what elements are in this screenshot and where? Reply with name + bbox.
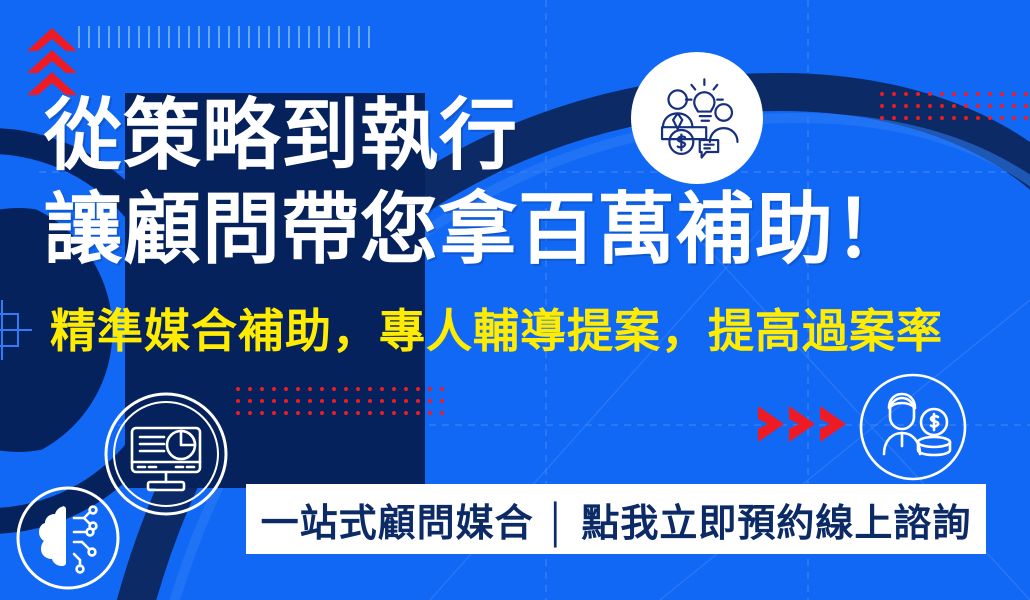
top-tick-marks (78, 26, 370, 48)
cta-button[interactable]: 一站式顧問媒合 │ 點我立即預約線上諮詢 (246, 484, 986, 554)
funding-advisor-coins-icon (858, 372, 968, 482)
red-chevrons-up-icon (21, 28, 83, 96)
red-chevrons-right-icon (758, 402, 850, 446)
headline-line-2: 讓顧問帶您拿百萬補助！ (44, 182, 994, 276)
consulting-team-idea-icon (631, 52, 763, 184)
ai-brain-circuit-icon (14, 484, 122, 592)
dashboard-chart-monitor-icon (104, 392, 228, 516)
cta-button-label: 一站式顧問媒合 │ 點我立即預約線上諮詢 (261, 492, 972, 547)
headline-line-1: 從策略到執行 (44, 88, 994, 182)
promo-banner: 從策略到執行 讓顧問帶您拿百萬補助！ 精準媒合補助，專人輔導提案，提高過案率 (0, 0, 1030, 600)
headline-group: 從策略到執行 讓顧問帶您拿百萬補助！ (44, 88, 994, 276)
red-dot-grid-left (236, 387, 444, 415)
subtitle-text: 精準媒合補助，專人輔導提案，提高過案率 (50, 303, 943, 359)
